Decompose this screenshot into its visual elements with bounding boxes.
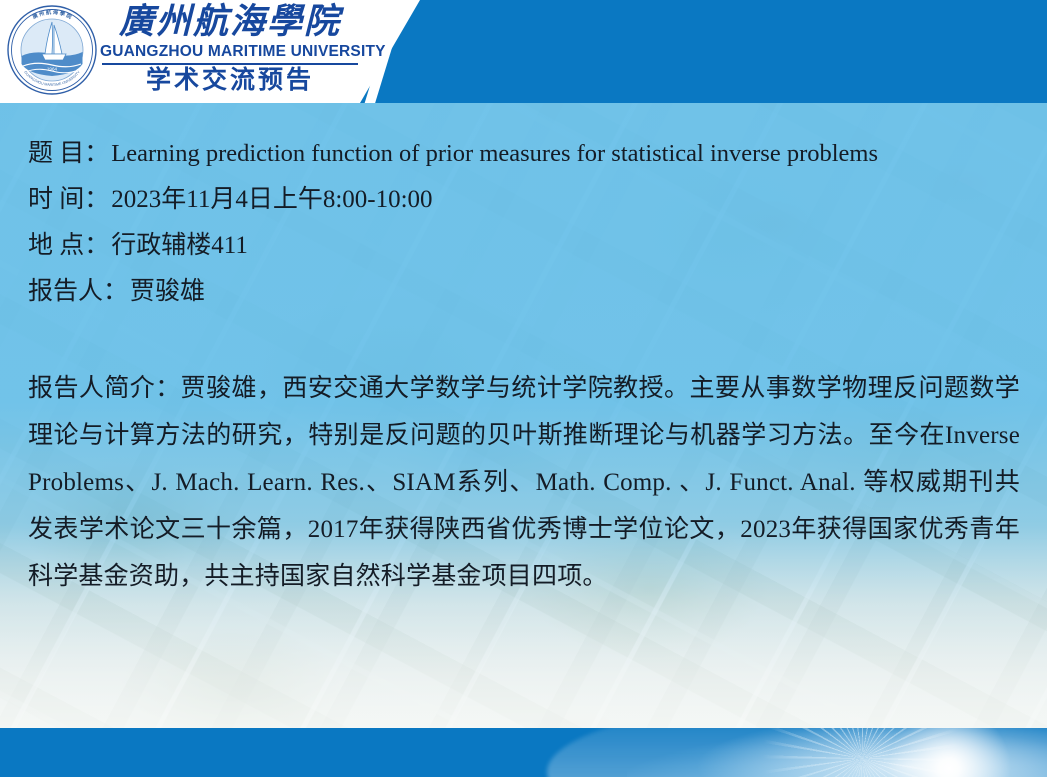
info-label-speaker: 报告人： <box>28 269 128 315</box>
university-name-cn: 廣州航海學院 <box>100 2 360 42</box>
seminar-poster: 廣 州 航 海 學 院 GUANGZHOU MARITIME UNIVERSIT… <box>0 0 1047 777</box>
info-value-location: 行政辅楼411 <box>111 223 248 269</box>
info-row-topic: 题 目： Learning prediction function of pri… <box>28 131 1028 177</box>
info-value-time: 2023年11月4日上午8:00-10:00 <box>111 177 432 223</box>
header-titles: 廣州航海學院 GUANGZHOU MARITIME UNIVERSITY 学术交… <box>100 2 360 96</box>
info-label-topic: 题 目： <box>28 131 109 177</box>
university-name-en: GUANGZHOU MARITIME UNIVERSITY <box>100 43 360 61</box>
info-value-speaker: 贾骏雄 <box>130 269 205 315</box>
info-row-location: 地 点： 行政辅楼411 <box>28 223 1028 269</box>
banner-subtitle: 学术交流预告 <box>100 66 360 96</box>
info-value-topic: Learning prediction function of prior me… <box>111 131 878 177</box>
header-rule-divider <box>102 63 358 65</box>
info-row-time: 时 间： 2023年11月4日上午8:00-10:00 <box>28 177 1028 223</box>
poster-content: 题 目： Learning prediction function of pri… <box>0 103 1047 728</box>
svg-text:1964: 1964 <box>47 67 58 72</box>
poster-footer-band <box>0 728 1047 777</box>
poster-header: 廣 州 航 海 學 院 GUANGZHOU MARITIME UNIVERSIT… <box>0 0 1047 103</box>
university-seal-logo-icon: 廣 州 航 海 學 院 GUANGZHOU MARITIME UNIVERSIT… <box>6 4 98 96</box>
info-label-location: 地 点： <box>28 223 109 269</box>
info-row-speaker: 报告人： 贾骏雄 <box>28 269 1028 315</box>
info-label-time: 时 间： <box>28 177 109 223</box>
footer-sun-glow-icon <box>627 728 1047 777</box>
event-info-block: 题 目： Learning prediction function of pri… <box>28 131 1028 315</box>
speaker-biography: 报告人简介：贾骏雄，西安交通大学数学与统计学院教授。主要从事数学物理反问题数学理… <box>28 365 1020 600</box>
